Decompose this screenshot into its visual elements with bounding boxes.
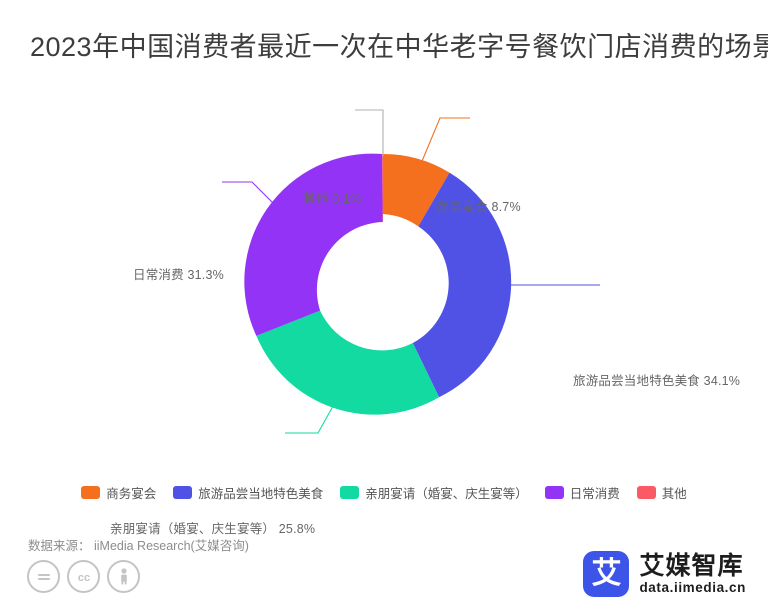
svg-text:cc: cc	[77, 572, 89, 584]
chart-legend: 商务宴会 旅游品尝当地特色美食 亲朋宴请（婚宴、庆生宴等） 日常消费 其他	[0, 483, 768, 502]
legend-label-other: 其他	[662, 483, 687, 502]
donut-slice-family[interactable]	[256, 311, 439, 415]
license-icons: cc	[27, 560, 140, 593]
equals-icon	[27, 560, 60, 593]
legend-label-business: 商务宴会	[106, 483, 156, 502]
legend-item-family[interactable]: 亲朋宴请（婚宴、庆生宴等）	[340, 483, 528, 502]
slice-label-other: 其他 0.1%	[303, 188, 361, 207]
legend-item-daily[interactable]: 日常消费	[545, 483, 620, 502]
cc-icon-glyph: cc	[73, 570, 95, 584]
donut-chart-svg	[0, 90, 768, 480]
brand-mark-icon: 艾	[583, 551, 629, 597]
slice-label-daily: 日常消费 31.3%	[133, 264, 224, 283]
data-source-text: 数据来源： iiMedia Research(艾媒咨询)	[28, 535, 249, 554]
legend-swatch-family	[340, 486, 359, 499]
legend-label-travel: 旅游品尝当地特色美食	[198, 483, 323, 502]
brand-logo: 艾 艾媒智库 data.iimedia.cn	[583, 551, 746, 597]
page-title: 2023年中国消费者最近一次在中华老字号餐饮门店消费的场景	[30, 30, 768, 64]
leader-line-daily	[222, 182, 274, 204]
legend-swatch-business	[81, 486, 100, 499]
legend-item-other[interactable]: 其他	[637, 483, 687, 502]
brand-text-block: 艾媒智库 data.iimedia.cn	[639, 553, 746, 595]
legend-label-family: 亲朋宴请（婚宴、庆生宴等）	[365, 483, 528, 502]
equals-icon-glyph	[35, 568, 53, 586]
legend-item-business[interactable]: 商务宴会	[81, 483, 156, 502]
leader-line-business	[420, 118, 470, 166]
legend-swatch-travel	[173, 486, 192, 499]
slice-label-travel: 旅游品尝当地特色美食 34.1%	[573, 370, 740, 389]
legend-swatch-other	[637, 486, 656, 499]
person-icon	[107, 560, 140, 593]
person-icon-glyph	[116, 567, 132, 587]
legend-label-daily: 日常消费	[570, 483, 620, 502]
legend-item-travel[interactable]: 旅游品尝当地特色美食	[173, 483, 323, 502]
donut-slice-daily[interactable]	[244, 154, 382, 336]
brand-url: data.iimedia.cn	[639, 581, 746, 595]
donut-chart: 其他 0.1% 商务宴会 8.7% 旅游品尝当地特色美食 34.1% 亲朋宴请（…	[0, 90, 768, 480]
leader-line-other	[355, 110, 383, 156]
cc-icon: cc	[67, 560, 100, 593]
slice-label-business: 商务宴会 8.7%	[437, 196, 521, 215]
brand-name: 艾媒智库	[639, 553, 746, 579]
legend-swatch-daily	[545, 486, 564, 499]
